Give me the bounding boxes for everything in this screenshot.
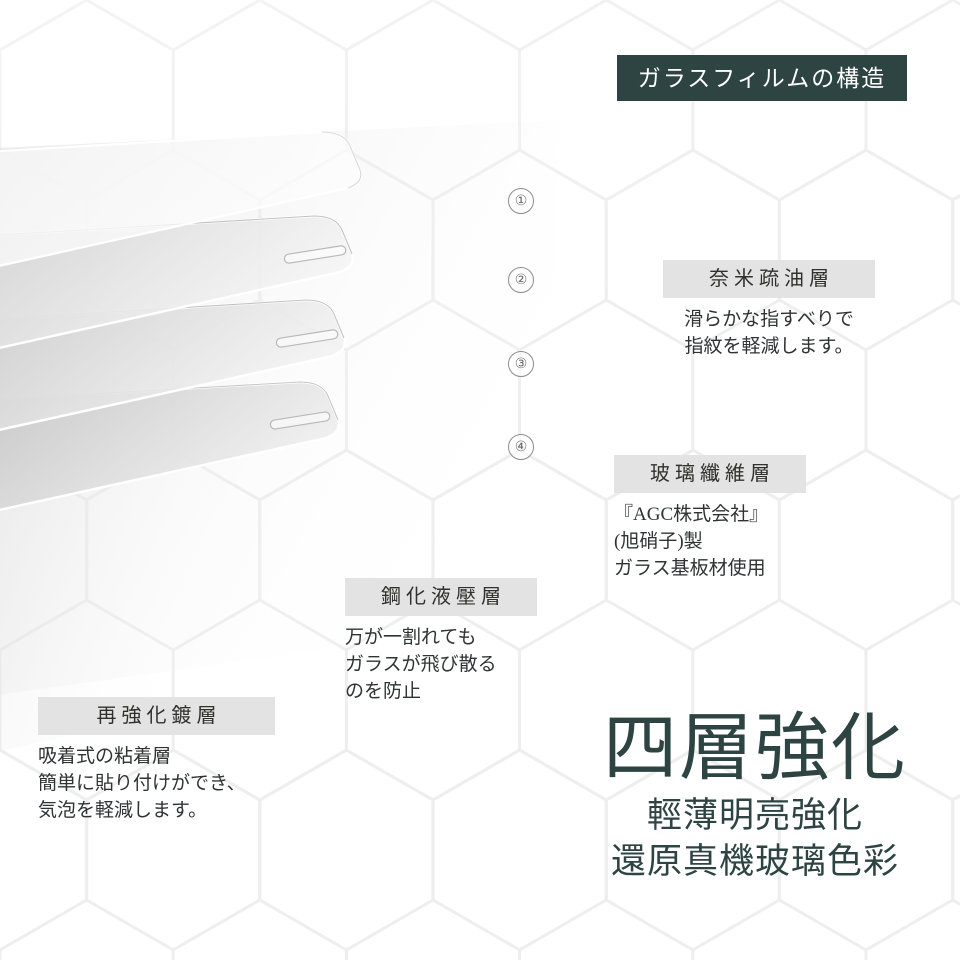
- glass-layer-stack-illustration: [0, 120, 550, 580]
- callout-re-strengthened-coating-body: 吸着式の粘着層 簡単に貼り付けができ、 気泡を軽減します。: [38, 744, 278, 825]
- hero-subtitle-1: 輕薄明亮強化: [560, 795, 950, 836]
- layer-marker-4-label: ④: [515, 439, 528, 455]
- callout-nano-oleophobic-chip: 奈米疏油層: [663, 260, 875, 298]
- hero-main-title: 四層強化: [560, 712, 950, 787]
- callout-nano-oleophobic-body: 滑らかな指すべりで 指紋を軽減します。: [663, 307, 875, 361]
- layer-marker-1: ①: [508, 188, 534, 214]
- layer-marker-2-label: ②: [515, 272, 528, 288]
- hero-headline-block: 四層強化 輕薄明亮強化 還原真機玻璃色彩: [560, 712, 950, 882]
- callout-tempered-hydraulic-title: 鋼化液壓層: [376, 587, 506, 607]
- infographic-canvas: ガラスフィルムの構造 ① ② ③ ④ 奈米疏油層 滑らかな指すべりで 指紋を軽減…: [0, 0, 960, 960]
- hero-subtitle-2: 還原真機玻璃色彩: [560, 841, 950, 882]
- layer-marker-3: ③: [508, 351, 534, 377]
- callout-glass-fiber-chip: 玻璃纖維層: [614, 455, 806, 493]
- title-banner: ガラスフィルムの構造: [617, 55, 907, 101]
- layer-marker-1-label: ①: [515, 193, 528, 209]
- layer-marker-3-label: ③: [515, 356, 528, 372]
- banner-title: ガラスフィルムの構造: [638, 67, 887, 90]
- callout-tempered-hydraulic-body: 万が一割れても ガラスが飛び散る のを防止: [345, 625, 545, 706]
- callout-re-strengthened-coating: 再強化鍍層 吸着式の粘着層 簡単に貼り付けができ、 気泡を軽減します。: [38, 697, 278, 825]
- layer-marker-2: ②: [508, 267, 534, 293]
- callout-glass-fiber: 玻璃纖維層 『AGC株式会社』 (旭硝子)製 ガラス基板材使用: [614, 455, 814, 583]
- callout-nano-oleophobic: 奈米疏油層 滑らかな指すべりで 指紋を軽減します。: [663, 260, 875, 361]
- layer-marker-4: ④: [508, 434, 534, 460]
- callout-tempered-hydraulic: 鋼化液壓層 万が一割れても ガラスが飛び散る のを防止: [345, 578, 545, 706]
- callout-nano-oleophobic-title: 奈米疏油層: [704, 269, 834, 289]
- callout-glass-fiber-body: 『AGC株式会社』 (旭硝子)製 ガラス基板材使用: [614, 502, 814, 583]
- callout-tempered-hydraulic-chip: 鋼化液壓層: [345, 578, 537, 616]
- callout-re-strengthened-coating-title: 再強化鍍層: [92, 706, 222, 726]
- callout-re-strengthened-coating-chip: 再強化鍍層: [38, 697, 275, 735]
- callout-glass-fiber-title: 玻璃纖維層: [645, 464, 775, 484]
